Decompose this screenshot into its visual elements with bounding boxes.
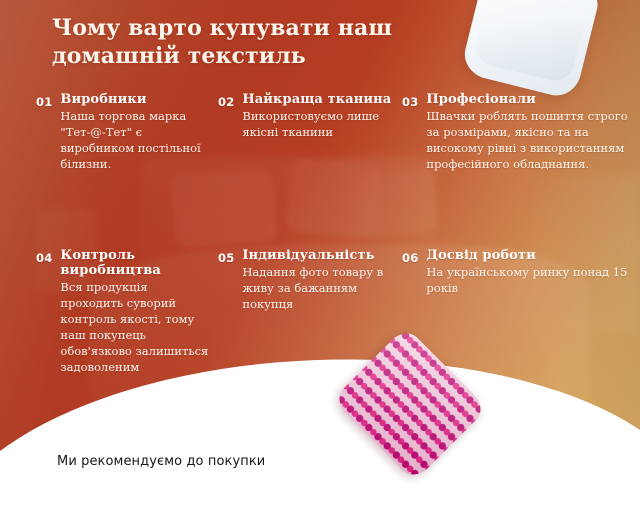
benefit-desc-03: Швачки роблять пошиття строго за розміра… xyxy=(426,108,640,172)
benefit-text-02: Найкраща тканина Використовуємо лише які… xyxy=(242,92,400,140)
page-title: Чому варто купувати наш домашній текстил… xyxy=(52,14,412,70)
benefit-title-02: Найкраща тканина xyxy=(242,92,400,107)
benefit-number-04: 04 xyxy=(36,248,52,265)
benefit-item-02: 02 Найкраща тканина Використовуємо лише … xyxy=(210,92,400,140)
benefit-desc-05: Надання фото товару в живу за бажанням п… xyxy=(242,264,400,312)
benefit-desc-06: На українському ринку понад 15 років xyxy=(426,264,640,296)
benefit-title-04: Контроль виробництва xyxy=(60,248,210,278)
benefits-row-bottom: 04 Контроль виробництва Вся продукція пр… xyxy=(0,248,640,375)
benefit-desc-02: Використовуємо лише якісні тканини xyxy=(242,108,400,140)
benefit-number-05: 05 xyxy=(218,248,234,265)
benefit-title-01: Виробники xyxy=(60,92,210,107)
benefit-item-05: 05 Індивідуальність Надання фото товару … xyxy=(210,248,400,312)
benefit-number-01: 01 xyxy=(36,92,52,109)
benefit-title-05: Індивідуальність xyxy=(242,248,400,263)
benefit-text-03: Професіонали Швачки роблять пошиття стро… xyxy=(426,92,640,172)
benefit-item-06: 06 Досвід роботи На українському ринку п… xyxy=(400,248,640,296)
recommendation-note: Ми рекомендуємо до покупки xyxy=(57,452,265,472)
infographic-poster: Чому варто купувати наш домашній текстил… xyxy=(0,0,640,522)
benefit-number-03: 03 xyxy=(402,92,418,109)
benefit-item-03: 03 Професіонали Швачки роблять пошиття с… xyxy=(400,92,640,172)
benefit-number-02: 02 xyxy=(218,92,234,109)
benefit-text-01: Виробники Наша торгова марка "Тет-@-Тет"… xyxy=(60,92,210,172)
benefit-text-06: Досвід роботи На українському ринку пона… xyxy=(426,248,640,296)
benefit-desc-01: Наша торгова марка "Тет-@-Тет" є виробни… xyxy=(60,108,210,172)
benefits-grid: 01 Виробники Наша торгова марка "Тет-@-Т… xyxy=(0,92,640,375)
benefit-item-04: 04 Контроль виробництва Вся продукція пр… xyxy=(0,248,210,375)
benefit-text-05: Індивідуальність Надання фото товару в ж… xyxy=(242,248,400,312)
benefit-number-06: 06 xyxy=(402,248,418,265)
benefit-title-03: Професіонали xyxy=(426,92,640,107)
benefit-text-04: Контроль виробництва Вся продукція прохо… xyxy=(60,248,210,375)
benefits-row-top: 01 Виробники Наша торгова марка "Тет-@-Т… xyxy=(0,92,640,172)
benefit-item-01: 01 Виробники Наша торгова марка "Тет-@-Т… xyxy=(0,92,210,172)
benefit-title-06: Досвід роботи xyxy=(426,248,640,263)
poster-content: Чому варто купувати наш домашній текстил… xyxy=(0,0,640,522)
benefit-desc-04: Вся продукція проходить суворий контроль… xyxy=(60,279,210,375)
